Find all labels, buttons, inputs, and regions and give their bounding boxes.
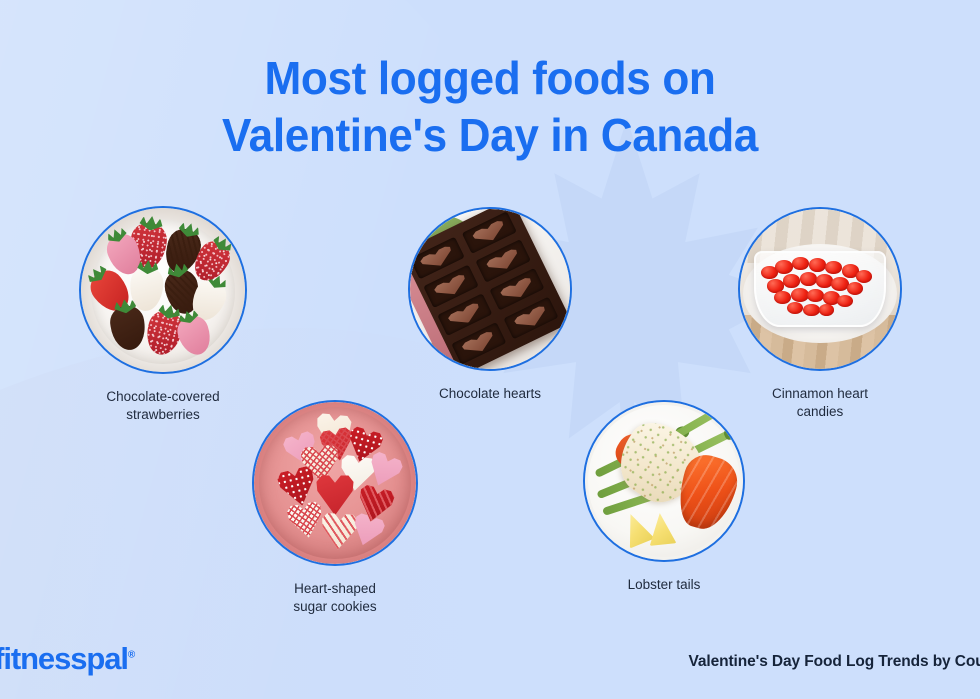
food-item-chocolate-covered-strawberries: Chocolate-covered strawberries xyxy=(73,206,253,424)
candy-cluster xyxy=(756,253,883,326)
page-title: Most logged foods on Valentine's Day in … xyxy=(20,50,961,164)
photo-lobster-tails xyxy=(585,402,743,560)
photo-heart-shaped-sugar-cookies xyxy=(254,402,416,564)
heart-icon xyxy=(496,273,537,305)
food-item-heart-shaped-sugar-cookies: Heart-shaped sugar cookies xyxy=(250,400,420,616)
heart-icon xyxy=(510,301,551,333)
food-item-cinnamon-heart-candies: Cinnamon heart candies xyxy=(736,207,904,421)
candy xyxy=(791,288,809,302)
candy xyxy=(856,270,873,283)
food-image-lobster-tails xyxy=(583,400,745,562)
candy xyxy=(803,304,820,316)
myfitnesspal-logo[interactable]: yfitnesspal® xyxy=(0,641,134,677)
logo-wordmark: yfitnesspal xyxy=(0,641,128,676)
food-image-cinnamon-heart-candies xyxy=(738,207,902,371)
clear-plastic-tray xyxy=(754,251,885,328)
food-image-chocolate-covered-strawberries xyxy=(79,206,247,374)
candy xyxy=(783,274,800,287)
registered-trademark-icon: ® xyxy=(128,650,134,661)
candy xyxy=(774,291,791,304)
candy xyxy=(775,260,793,274)
food-image-chocolate-hearts xyxy=(408,207,572,371)
candy xyxy=(816,274,833,287)
candy xyxy=(847,282,864,295)
heart-icon xyxy=(458,327,499,359)
food-label-chocolate-covered-strawberries: Chocolate-covered strawberries xyxy=(73,388,253,424)
candy xyxy=(807,289,824,302)
food-label-heart-shaped-sugar-cookies: Heart-shaped sugar cookies xyxy=(250,580,420,616)
candy xyxy=(792,257,809,270)
candy xyxy=(787,302,804,314)
page-title-line-1: Most logged foods on xyxy=(20,50,961,107)
candy xyxy=(809,258,827,272)
candy xyxy=(819,304,834,316)
candy xyxy=(800,272,818,286)
food-item-chocolate-hearts: Chocolate hearts xyxy=(405,207,575,403)
food-item-lobster-tails: Lobster tails xyxy=(581,400,747,594)
food-image-heart-shaped-sugar-cookies xyxy=(252,400,418,566)
food-label-lobster-tails: Lobster tails xyxy=(581,576,747,594)
candy xyxy=(825,261,842,274)
food-label-chocolate-hearts: Chocolate hearts xyxy=(405,385,575,403)
footer-note: Valentine's Day Food Log Trends by Coun xyxy=(688,653,980,671)
photo-chocolate-covered-strawberries xyxy=(81,208,245,372)
heart-icon xyxy=(444,298,485,330)
heart-icon xyxy=(430,270,471,302)
page-title-line-2: Valentine's Day in Canada xyxy=(20,107,961,164)
heart-icon xyxy=(468,216,509,248)
heart-icon xyxy=(482,244,523,276)
food-label-cinnamon-heart-candies: Cinnamon heart candies xyxy=(736,385,904,421)
heart-icon xyxy=(416,241,457,273)
candy xyxy=(837,295,854,307)
photo-cinnamon-heart-candies xyxy=(740,209,900,369)
photo-chocolate-hearts xyxy=(410,209,570,369)
